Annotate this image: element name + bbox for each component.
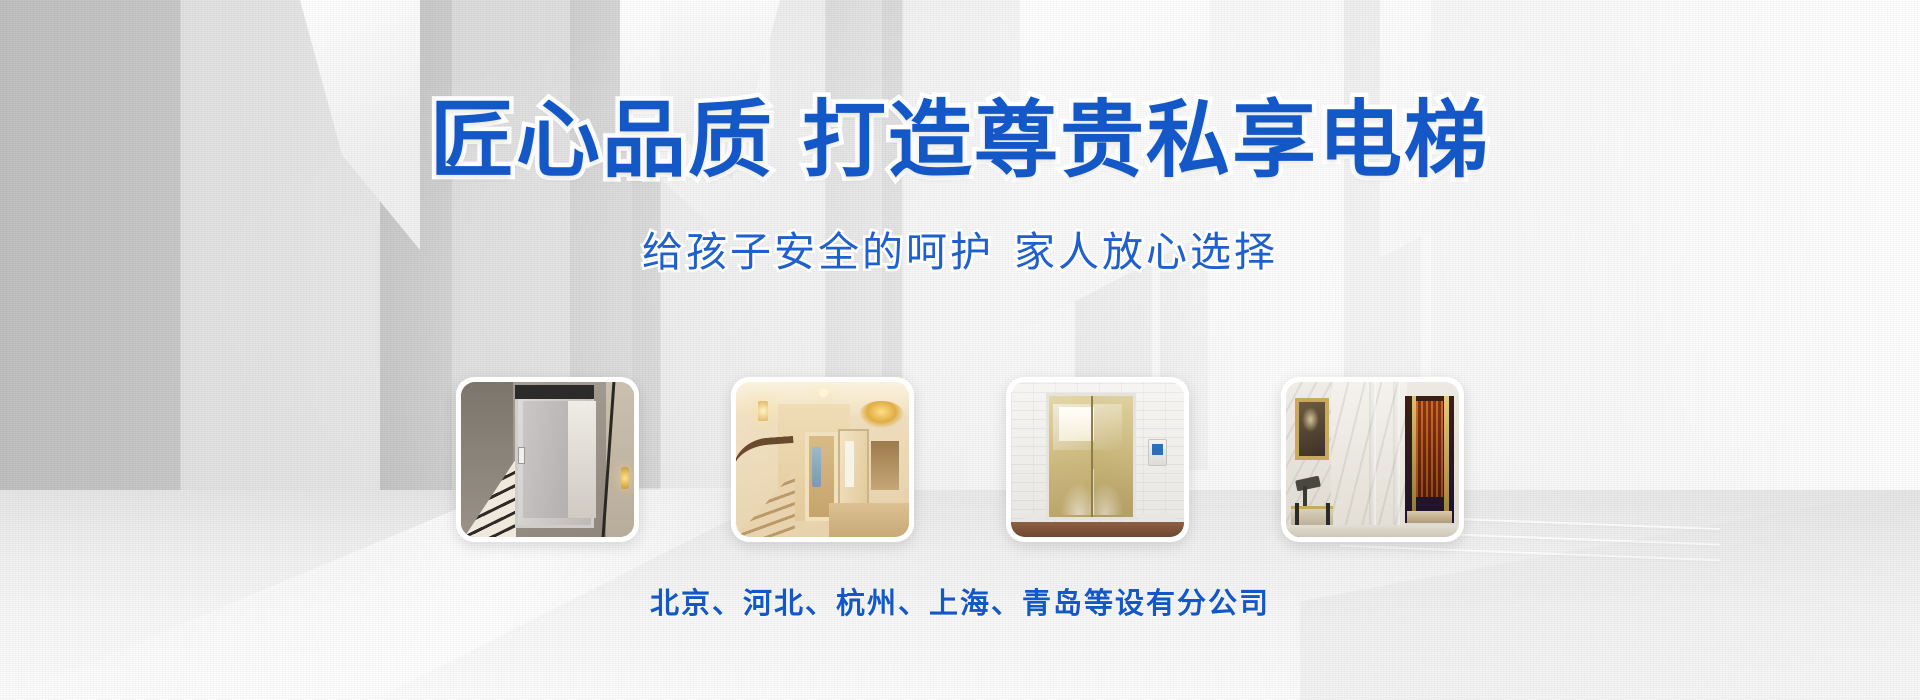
headline-part-1: 匠心品质 (430, 93, 774, 187)
t4-artwork-highlight (1302, 407, 1319, 432)
hero-banner: 匠心品质打造尊贵私享电梯 给孩子安全的呵护家人放心选择 (0, 0, 1920, 700)
banner-subheadline: 给孩子安全的呵护家人放心选择 (0, 218, 1920, 278)
t2-chandelier (859, 401, 904, 429)
product-thumbnail-strip (456, 377, 1464, 542)
t4-lobby-floor (1286, 525, 1459, 537)
t4-cab-floor (1407, 511, 1452, 523)
t2-wall-sconce (758, 401, 768, 421)
thumbnail-image-4 (1286, 382, 1459, 537)
t3-wood-floor (1011, 522, 1184, 538)
t2-door-glass (845, 441, 854, 488)
thumbnail-marble-lobby-elevator[interactable] (1281, 377, 1464, 542)
t1-cab-door (523, 401, 568, 519)
banner-headline: 匠心品质打造尊贵私享电梯 (0, 96, 1920, 184)
t3-glass-reflection (1053, 404, 1122, 451)
t2-handrail (736, 436, 797, 493)
thumbnail-golden-glass-door-elevator[interactable] (1006, 377, 1189, 542)
t1-top-glass (515, 385, 595, 399)
t4-marble-column-2 (1393, 382, 1400, 537)
t1-wall-sconce (621, 467, 629, 489)
thumbnail-home-elevator-with-staircase[interactable] (456, 377, 639, 542)
t1-open-interior (568, 401, 596, 519)
banner-content: 匠心品质打造尊贵私享电梯 给孩子安全的呵护家人放心选择 (0, 0, 1920, 700)
t2-floor (829, 503, 909, 537)
thumbnail-beige-hall-elevator[interactable] (731, 377, 914, 542)
subheadline-part-2: 家人放心选择 (1014, 229, 1278, 275)
t4-brass-trim-1 (1444, 396, 1449, 523)
thumbnail-image-3 (1011, 382, 1184, 537)
t3-door-seam (1091, 396, 1093, 517)
branch-offices-note: 北京、河北、杭州、上海、青岛等设有分公司 (0, 580, 1920, 622)
t4-marble-column-1 (1369, 382, 1376, 537)
thumbnail-image-1 (461, 382, 634, 537)
t1-call-panel (518, 447, 525, 464)
headline-part-2: 打造尊贵私享电梯 (802, 93, 1490, 187)
subheadline-part-1: 给孩子安全的呵护 (642, 229, 994, 275)
thumbnail-image-2 (736, 382, 909, 537)
t4-brass-trim-2 (1412, 396, 1416, 523)
t2-cab-panel (812, 447, 821, 487)
t2-far-window (871, 441, 899, 491)
t4-wood-panel (1416, 401, 1444, 497)
t4-lamp-stem (1303, 486, 1307, 508)
t3-panel-screen (1152, 444, 1163, 455)
